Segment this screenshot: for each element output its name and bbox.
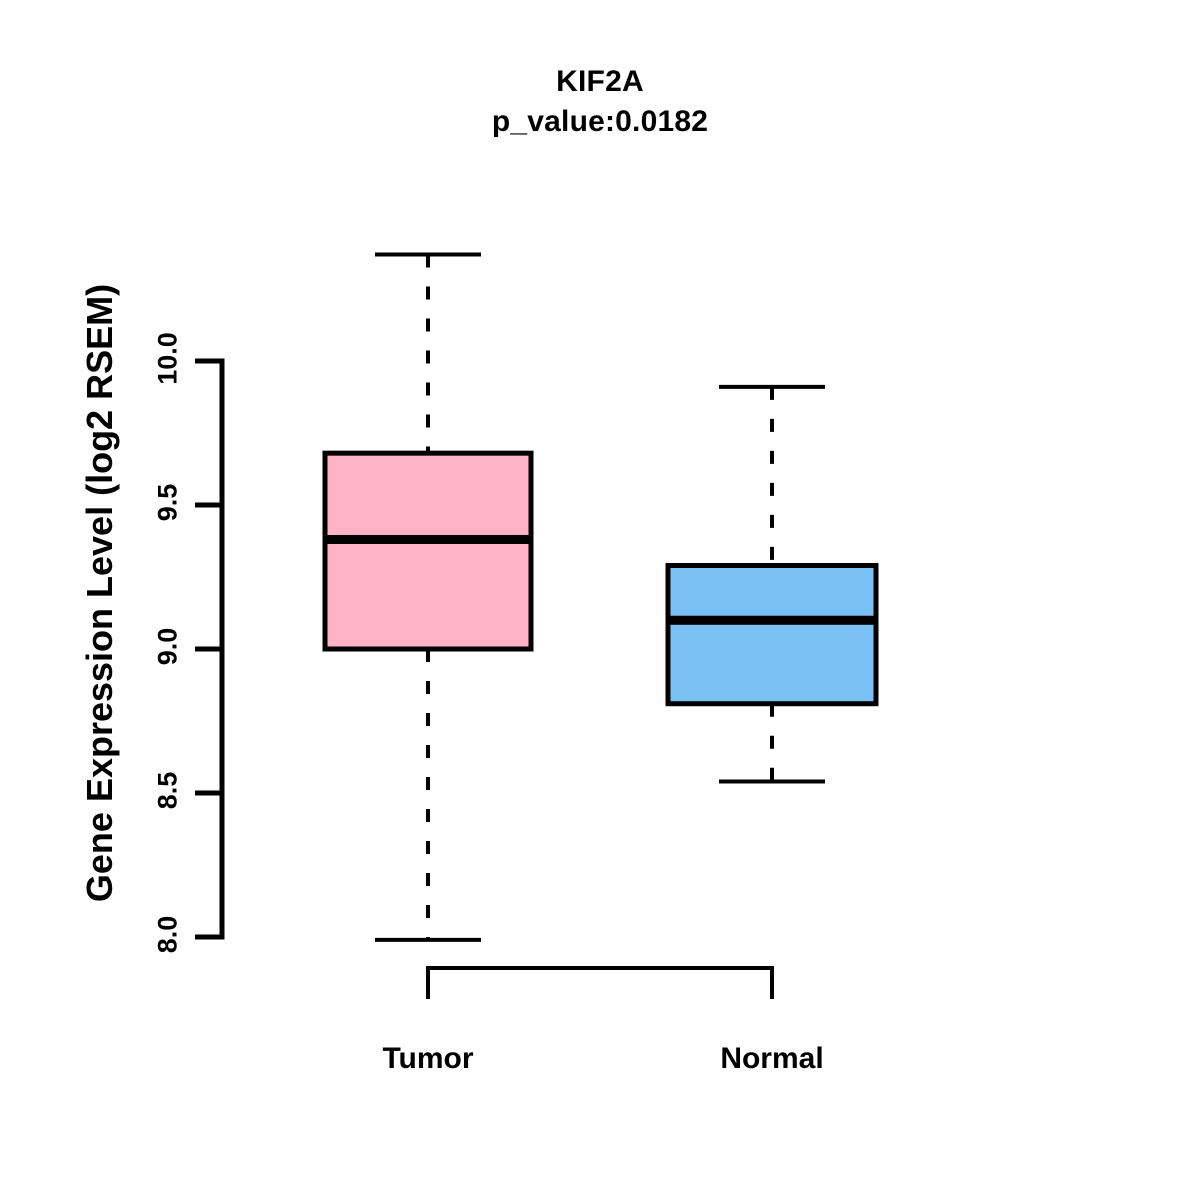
y-tick-label-3: 9.5 bbox=[153, 458, 184, 548]
y-tick-label-2: 9.0 bbox=[153, 602, 184, 692]
x-axis-bracket bbox=[428, 968, 772, 999]
box-tumor[interactable] bbox=[325, 453, 531, 649]
box-normal[interactable] bbox=[668, 565, 876, 703]
x-category-label-normal: Normal bbox=[622, 1042, 922, 1076]
y-tick-label-4: 10.0 bbox=[153, 314, 184, 404]
boxplot-figure: KIF2A p_value:0.0182 Gene Expression Lev… bbox=[0, 0, 1200, 1200]
plot-canvas bbox=[0, 0, 1200, 1200]
y-tick-label-1: 8.5 bbox=[153, 746, 184, 836]
x-category-label-tumor: Tumor bbox=[278, 1042, 578, 1076]
y-tick-label-0: 8.0 bbox=[153, 890, 184, 980]
